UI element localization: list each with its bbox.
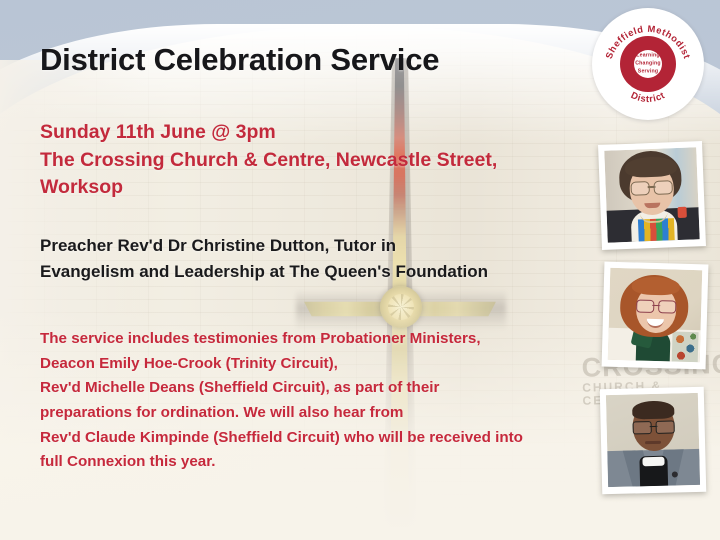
portrait-photo-3 bbox=[600, 387, 707, 495]
p3-hair bbox=[632, 400, 674, 419]
p3-glasses-icon bbox=[633, 420, 675, 432]
p1-fringe bbox=[625, 156, 678, 178]
service-details: The service includes testimonies from Pr… bbox=[40, 327, 523, 475]
portrait-photo-1-image bbox=[604, 147, 699, 242]
p2-fringe bbox=[632, 276, 680, 295]
portrait-photo-3-image bbox=[606, 393, 700, 487]
preacher-info: Preacher Rev'd Dr Christine Dutton, Tuto… bbox=[40, 233, 488, 284]
portrait-photo-2 bbox=[602, 262, 709, 370]
p3-mouth bbox=[645, 441, 661, 444]
p1-glasses-icon bbox=[630, 180, 672, 194]
p1-badge bbox=[677, 207, 686, 218]
sheffield-methodist-district-logo: Sheffield Methodist District Learning Ch… bbox=[592, 8, 704, 120]
p2-glasses-icon bbox=[636, 299, 676, 311]
portrait-photo-1 bbox=[598, 141, 706, 250]
event-datetime-venue: Sunday 11th June @ 3pm The Crossing Chur… bbox=[40, 119, 497, 202]
page-title: District Celebration Service bbox=[40, 42, 439, 78]
p2-patterned-fabric bbox=[672, 331, 699, 362]
portrait-photo-2-image bbox=[608, 268, 703, 363]
poster-canvas: CROSSING CHURCH & CENTRE District Celebr… bbox=[0, 0, 720, 540]
p3-clerical-collar bbox=[642, 457, 664, 467]
